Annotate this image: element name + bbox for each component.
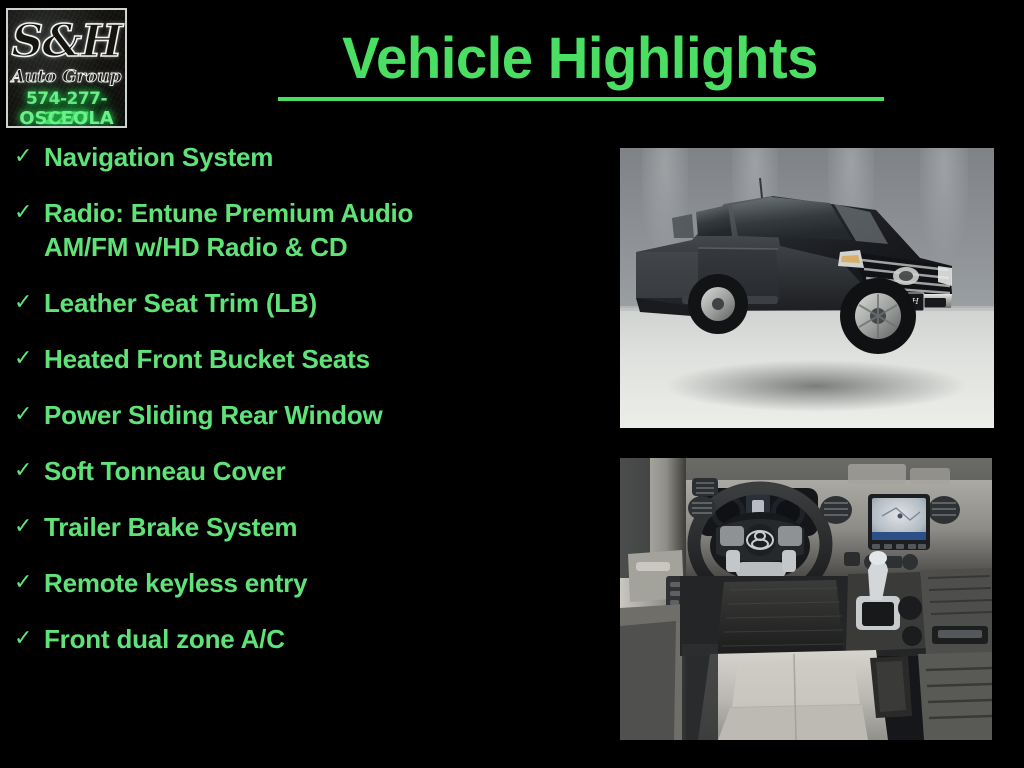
list-item: ✓ Navigation System	[0, 140, 600, 174]
interior-photo-artwork	[620, 458, 992, 740]
list-item: ✓ Remote keyless entry	[0, 566, 600, 600]
list-item: ✓ Radio: Entune Premium Audio AM/FM w/HD…	[0, 196, 600, 264]
list-item-label: Trailer Brake System	[44, 510, 600, 544]
list-item-label: Leather Seat Trim (LB)	[44, 286, 600, 320]
vehicle-exterior-photo: S&H	[620, 148, 994, 428]
page-title: Vehicle Highlights	[163, 28, 997, 90]
check-icon: ✓	[14, 196, 44, 230]
check-icon: ✓	[14, 398, 44, 432]
vehicle-interior-photo	[620, 458, 992, 740]
list-item: ✓ Power Sliding Rear Window	[0, 398, 600, 432]
list-item: ✓ Front dual zone A/C	[0, 622, 600, 656]
check-icon: ✓	[14, 454, 44, 488]
vehicle-highlights-list: ✓ Navigation System ✓ Radio: Entune Prem…	[0, 140, 600, 678]
list-item: ✓ Trailer Brake System	[0, 510, 600, 544]
list-item-label: Front dual zone A/C	[44, 622, 600, 656]
list-item: ✓ Heated Front Bucket Seats	[0, 342, 600, 376]
list-item-label: Remote keyless entry	[44, 566, 600, 600]
check-icon: ✓	[14, 286, 44, 320]
list-item: ✓ Soft Tonneau Cover	[0, 454, 600, 488]
check-icon: ✓	[14, 140, 44, 174]
logo-city-name: OSCEOLA	[8, 109, 125, 128]
logo-brand-text: S&H	[8, 16, 125, 68]
check-icon: ✓	[14, 510, 44, 544]
list-item-label: Radio: Entune Premium Audio AM/FM w/HD R…	[44, 196, 600, 264]
list-item-label: Navigation System	[44, 140, 600, 174]
list-item-label: Power Sliding Rear Window	[44, 398, 600, 432]
list-item-label: Heated Front Bucket Seats	[44, 342, 600, 376]
dealer-logo-badge: S&H Auto Group 574-277-2277 OSCEOLA	[6, 8, 127, 128]
check-icon: ✓	[14, 566, 44, 600]
list-item: ✓ Leather Seat Trim (LB)	[0, 286, 600, 320]
exterior-photo-artwork: S&H	[620, 148, 994, 428]
check-icon: ✓	[14, 622, 44, 656]
list-item-label: Soft Tonneau Cover	[44, 454, 600, 488]
page-title-underline	[278, 97, 884, 101]
check-icon: ✓	[14, 342, 44, 376]
logo-subtitle-text: Auto Group	[8, 66, 125, 88]
